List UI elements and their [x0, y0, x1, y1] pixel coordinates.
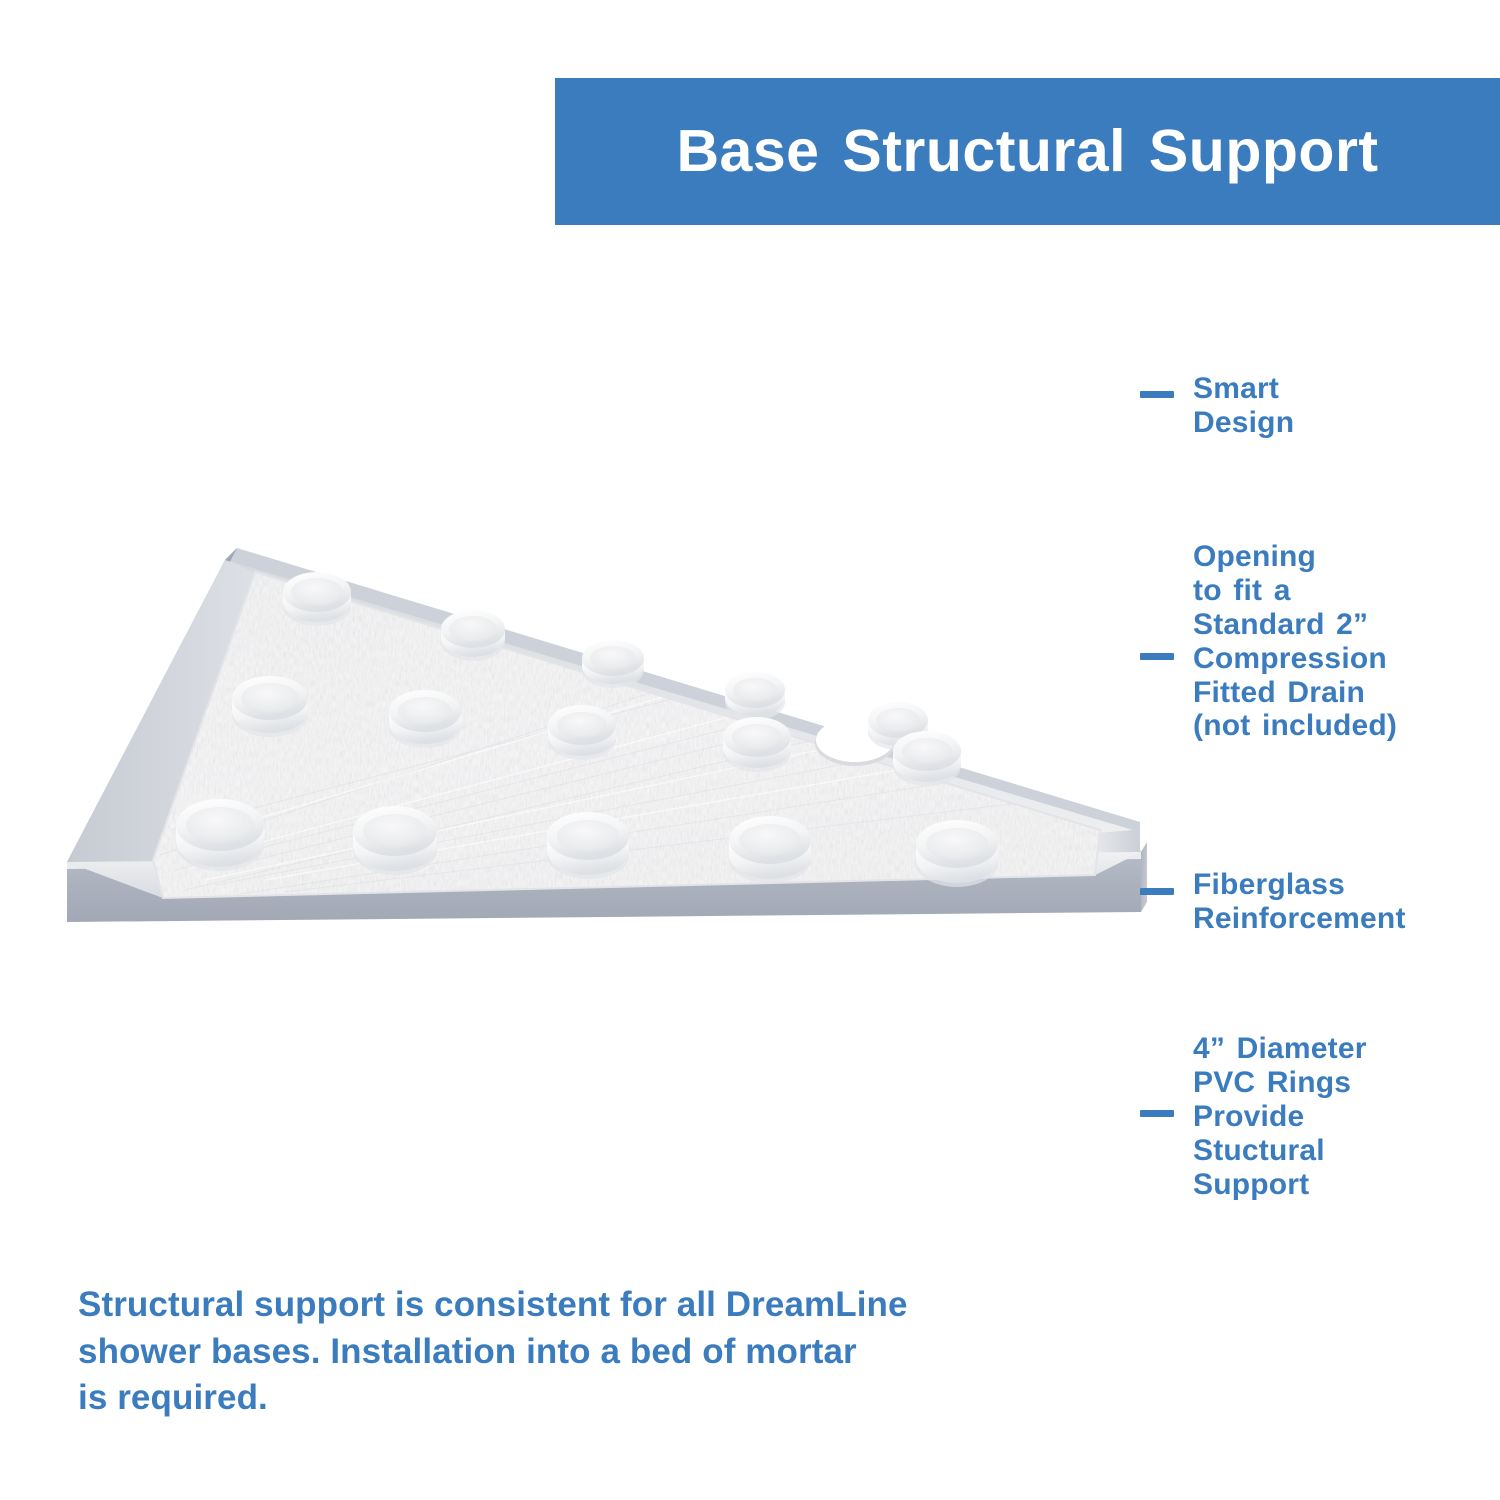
callout-dash-icon [1140, 888, 1174, 895]
pvc-ring [389, 690, 461, 748]
callout-line: Stuctural [1193, 1134, 1367, 1168]
shower-base-illustration [55, 530, 1155, 1000]
page-title: Base Structural Support [676, 122, 1378, 181]
callout-line: Support [1193, 1168, 1367, 1202]
callout-line: Standard 2” [1193, 608, 1397, 642]
callout-line: Provide [1193, 1100, 1367, 1134]
product-image [55, 530, 1155, 1000]
callout-line: Fiberglass [1193, 868, 1406, 902]
footer-note-line: Structural support is consistent for all… [78, 1282, 998, 1329]
pvc-ring [283, 572, 351, 626]
callout-dash-icon [1140, 653, 1174, 660]
pvc-ring [353, 806, 437, 875]
callout-dash-icon [1140, 391, 1174, 398]
callout-line: (not included) [1193, 709, 1397, 743]
callout-line: Fitted Drain [1193, 676, 1397, 710]
pvc-ring [582, 640, 644, 688]
callout-line: Smart [1193, 372, 1294, 406]
pvc-ring [723, 717, 791, 772]
callout-line: Reinforcement [1193, 902, 1406, 936]
callout-fiberglass-reinforcement: Fiberglass Reinforcement [1140, 868, 1500, 936]
callout-drain-opening-text: Opening to fit a Standard 2” Compression… [1193, 540, 1397, 743]
header-banner: Base Structural Support [555, 78, 1500, 225]
pvc-ring [547, 812, 629, 879]
callout-smart-design: Smart Design [1140, 372, 1500, 440]
pvc-ring [729, 816, 811, 883]
callout-fiberglass-text: Fiberglass Reinforcement [1193, 868, 1406, 936]
callout-pvc-rings: 4” Diameter PVC Rings Provide Stuctural … [1140, 1032, 1500, 1201]
callout-smart-design-text: Smart Design [1193, 372, 1294, 440]
pvc-ring [441, 610, 505, 661]
callout-line: to fit a [1193, 574, 1397, 608]
callout-drain-opening: Opening to fit a Standard 2” Compression… [1140, 540, 1500, 743]
callout-line: Compression [1193, 642, 1397, 676]
footer-note: Structural support is consistent for all… [78, 1282, 998, 1422]
pvc-ring [725, 672, 785, 720]
footer-note-line: shower bases. Installation into a bed of… [78, 1329, 998, 1376]
callout-pvc-rings-text: 4” Diameter PVC Rings Provide Stuctural … [1193, 1032, 1367, 1201]
pvc-ring [893, 731, 961, 786]
callout-line: Design [1193, 406, 1294, 440]
callout-line: PVC Rings [1193, 1066, 1367, 1100]
pvc-ring [916, 820, 998, 887]
footer-note-line: is required. [78, 1375, 998, 1422]
callout-dash-icon [1140, 1110, 1174, 1117]
pvc-ring [548, 705, 616, 760]
callout-line: 4” Diameter [1193, 1032, 1367, 1066]
pvc-ring [176, 799, 264, 871]
callout-line: Opening [1193, 540, 1397, 574]
pvc-ring [232, 676, 308, 737]
